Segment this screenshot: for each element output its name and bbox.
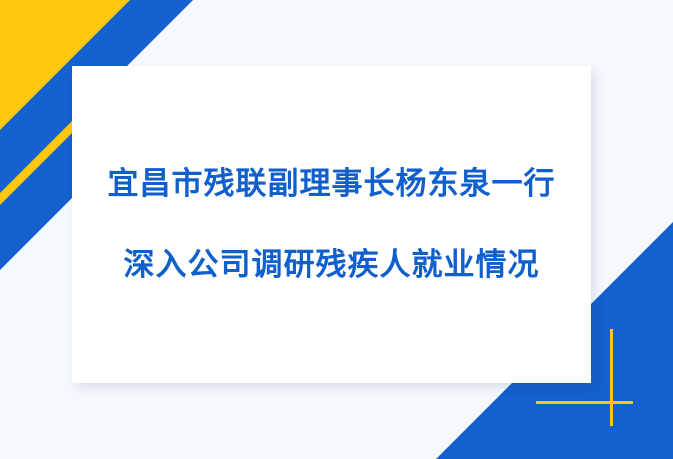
banner-canvas: 宜昌市残联副理事长杨东泉一行 深入公司调研残疾人就业情况 bbox=[0, 0, 673, 459]
title-line-2: 深入公司调研残疾人就业情况 bbox=[124, 249, 540, 282]
title-card: 宜昌市残联副理事长杨东泉一行 深入公司调研残疾人就业情况 bbox=[72, 66, 591, 383]
title-line-1: 宜昌市残联副理事长杨东泉一行 bbox=[108, 168, 556, 201]
